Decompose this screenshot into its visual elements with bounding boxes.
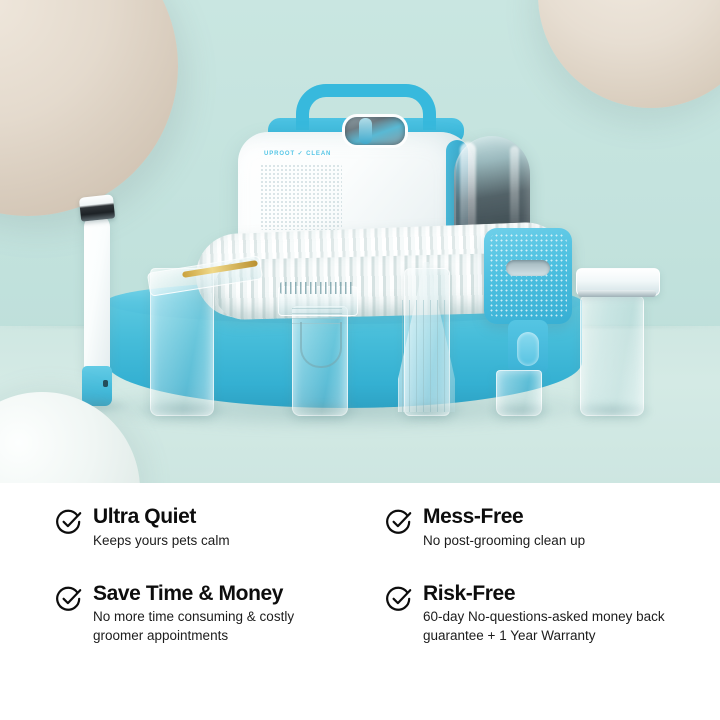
grooming-blade-barrel bbox=[580, 296, 644, 416]
hero-product-photo: UPROOT ✓ CLEAN bbox=[0, 0, 720, 483]
slicker-brush-pins bbox=[489, 233, 567, 319]
check-circle-icon bbox=[386, 509, 412, 535]
product-feature-page: UPROOT ✓ CLEAN bbox=[0, 0, 720, 720]
benefit-title: Ultra Quiet bbox=[93, 505, 230, 529]
benefit-item-risk-free: Risk-Free 60-day No-questions-asked mone… bbox=[386, 582, 696, 646]
benefit-text-block: Ultra Quiet Keeps yours pets calm bbox=[93, 505, 230, 550]
benefit-title: Risk-Free bbox=[423, 582, 691, 606]
benefit-subtitle: No post-grooming clean up bbox=[423, 531, 585, 550]
benefit-item-save-time-money: Save Time & Money No more time consuming… bbox=[56, 582, 386, 646]
unit-viewport bbox=[345, 117, 405, 145]
vent-grille bbox=[260, 164, 342, 230]
slicker-brush-button bbox=[517, 332, 539, 366]
shadow-grooming-blade bbox=[572, 402, 652, 420]
clipper-body bbox=[84, 214, 110, 380]
benefit-title: Save Time & Money bbox=[93, 582, 343, 606]
shadow-nozzle-tool bbox=[140, 400, 230, 420]
check-circle-icon bbox=[56, 586, 82, 612]
brand-logo-text: UPROOT ✓ CLEAN bbox=[264, 150, 331, 157]
benefit-title: Mess-Free bbox=[423, 505, 585, 529]
benefit-text-block: Risk-Free 60-day No-questions-asked mone… bbox=[423, 582, 691, 646]
shadow-crevice-tool bbox=[396, 402, 464, 420]
benefits-section: Ultra Quiet Keeps yours pets calm Mess-F… bbox=[0, 483, 720, 720]
benefit-subtitle: Keeps yours pets calm bbox=[93, 531, 230, 550]
shadow-slicker-brush bbox=[488, 402, 552, 420]
clipper-blade bbox=[79, 194, 115, 221]
benefits-grid: Ultra Quiet Keeps yours pets calm Mess-F… bbox=[56, 505, 696, 646]
deshedding-tool-teeth bbox=[280, 282, 354, 294]
deshedding-tool-throat bbox=[300, 322, 342, 368]
benefit-text-block: Save Time & Money No more time consuming… bbox=[93, 582, 343, 646]
unit-viewport-stripe bbox=[359, 118, 372, 144]
benefit-subtitle: No more time consuming & costly groomer … bbox=[93, 607, 343, 645]
clipper-port bbox=[103, 380, 108, 387]
pet-clipper bbox=[78, 196, 118, 408]
check-circle-icon bbox=[386, 586, 412, 612]
shadow-deshedding-tool bbox=[284, 402, 360, 420]
benefit-item-mess-free: Mess-Free No post-grooming clean up bbox=[386, 505, 696, 550]
benefit-text-block: Mess-Free No post-grooming clean up bbox=[423, 505, 585, 550]
crevice-tool-ribs bbox=[402, 300, 450, 412]
benefit-subtitle: 60-day No-questions-asked money back gua… bbox=[423, 607, 691, 645]
benefit-item-ultra-quiet: Ultra Quiet Keeps yours pets calm bbox=[56, 505, 386, 550]
slicker-brush-slot bbox=[506, 260, 550, 276]
check-circle-icon bbox=[56, 509, 82, 535]
grooming-blade-edge bbox=[578, 290, 656, 297]
